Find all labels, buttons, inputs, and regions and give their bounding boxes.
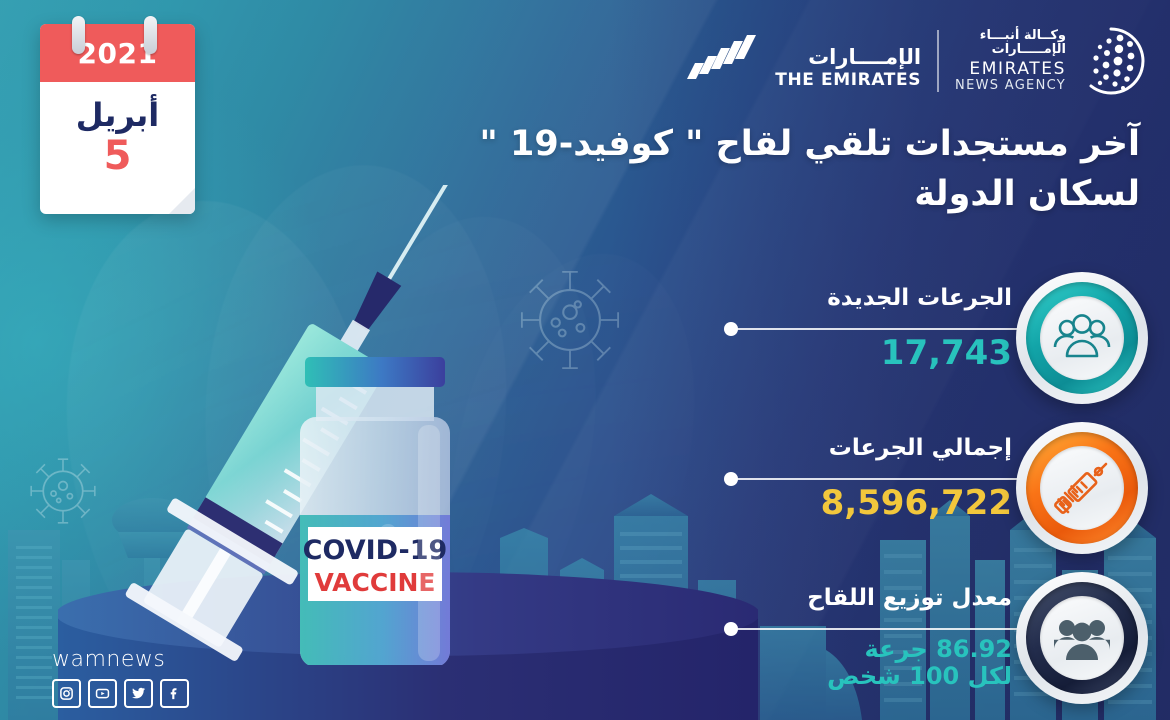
stat-value-line2: لكل 100 شخص — [742, 663, 1012, 690]
header-logos: الإمــــارات THE EMIRATES وكــالة أنبـــ… — [685, 20, 1146, 102]
emirates-logo-arabic: الإمــــارات — [808, 47, 921, 68]
wam-sphere-icon — [1076, 26, 1146, 96]
connector-line — [732, 478, 1022, 480]
calendar-header: 2021 — [40, 24, 195, 82]
date-calendar: 2021 أبريل 5 — [40, 24, 195, 214]
vaccine-illustration: COVID-19 VACCINE — [120, 185, 540, 665]
stat-label: معدل توزيع اللقاح — [742, 586, 1012, 611]
calendar-day: 5 — [40, 136, 195, 176]
stat-value-wrap: 86.92 جرعة لكل 100 شخص — [742, 636, 1012, 690]
footer-social: wamnews — [52, 647, 189, 708]
wam-logo-arabic-line2: الإمـــــارات — [992, 43, 1066, 57]
emirates-flag-mark-icon — [685, 33, 763, 89]
stat-badge-distribution-rate — [1016, 572, 1148, 704]
calendar-ring — [144, 16, 157, 54]
stat-label: إجمالي الجرعات — [742, 436, 1012, 461]
calendar-ring — [72, 16, 85, 54]
people-group-filled-icon — [1051, 612, 1113, 664]
emirates-logo-text: الإمــــارات THE EMIRATES — [775, 47, 921, 89]
wam-logo-english-line1: EMIRATES — [969, 60, 1066, 78]
syringe-icon — [1052, 458, 1112, 518]
page-title: آخر مستجدات تلقي لقاح " كوفيد-19 " لسكان… — [380, 120, 1140, 219]
youtube-icon[interactable] — [88, 679, 117, 708]
connector-line — [732, 628, 1022, 630]
connector-line — [732, 328, 1022, 330]
people-group-icon — [1051, 312, 1113, 364]
emirates-logo: الإمــــارات THE EMIRATES — [685, 33, 921, 89]
twitter-icon[interactable] — [124, 679, 153, 708]
stat-label: الجرعات الجديدة — [742, 286, 1012, 311]
badge-inner-face — [1040, 596, 1124, 680]
emirates-logo-english: THE EMIRATES — [775, 72, 921, 89]
stat-label-wrap: الجرعات الجديدة — [742, 272, 1012, 311]
stat-value: 17,743 — [742, 334, 1012, 372]
badge-inner-face — [1040, 446, 1124, 530]
social-icons-row — [52, 679, 189, 708]
wam-logo: وكــالة أنبـــاء الإمـــــارات EMIRATES … — [955, 26, 1146, 96]
facebook-icon[interactable] — [160, 679, 189, 708]
stat-card-total-doses: إجمالي الجرعات 8,596,722 — [728, 422, 1148, 562]
vial-label-vaccine: VACCINE — [315, 568, 436, 597]
stat-card-distribution-rate: معدل توزيع اللقاح 86.92 جرعة لكل 100 شخص — [728, 572, 1148, 712]
wam-logo-arabic-line1: وكــالة أنبـــاء — [980, 29, 1066, 43]
logo-divider — [937, 30, 939, 92]
stat-badge-total-doses — [1016, 422, 1148, 554]
calendar-month: أبريل — [40, 96, 195, 134]
calendar-page-fold — [169, 188, 195, 214]
stat-value: 8,596,722 — [742, 484, 1012, 522]
stat-label-wrap: إجمالي الجرعات — [742, 422, 1012, 461]
wam-logo-text: وكــالة أنبـــاء الإمـــــارات EMIRATES … — [955, 29, 1066, 92]
stat-card-new-doses: الجرعات الجديدة 17,743 — [728, 272, 1148, 412]
instagram-icon[interactable] — [52, 679, 81, 708]
badge-inner-face — [1040, 296, 1124, 380]
infographic-canvas: COVID-19 VACCINE 2021 أبريل 5 — [0, 0, 1170, 720]
stat-label-wrap: معدل توزيع اللقاح — [742, 572, 1012, 611]
stat-badge-new-doses — [1016, 272, 1148, 404]
stat-value-line1: 86.92 جرعة — [742, 636, 1012, 663]
social-handle: wamnews — [52, 647, 189, 672]
wam-logo-english-line2: NEWS AGENCY — [955, 79, 1066, 93]
